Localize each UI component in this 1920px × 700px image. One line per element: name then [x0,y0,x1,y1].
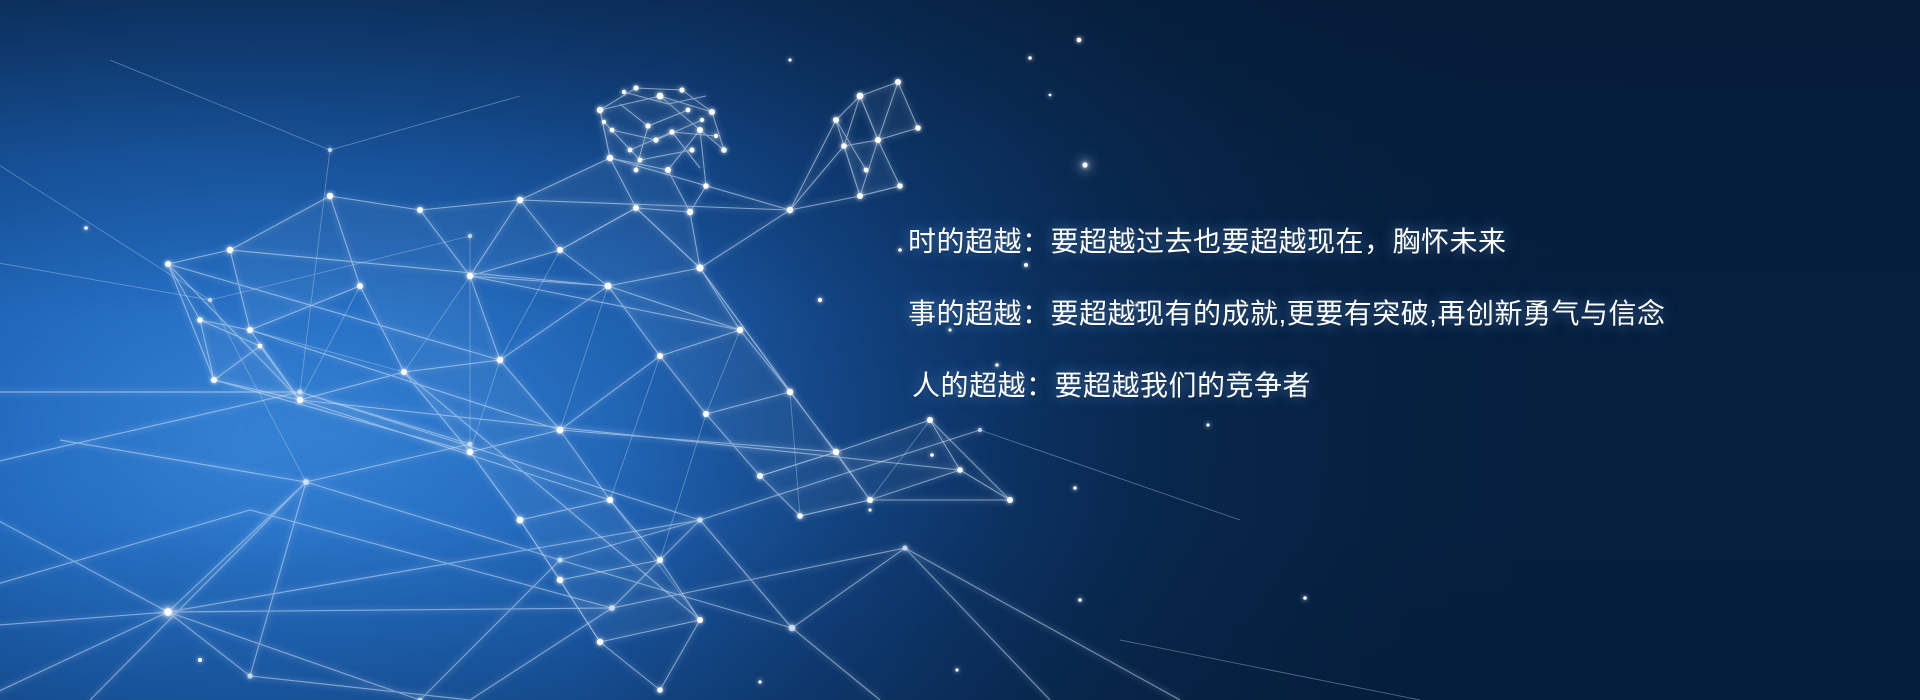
hero-banner: 时的超越：要超越过去也要超越现在，胸怀未来 事的超越：要超越现有的成就,更要有突… [0,0,1920,700]
tagline-block: 时的超越：要超越过去也要超越现在，胸怀未来 事的超越：要超越现有的成就,更要有突… [908,228,1788,400]
runner-polygon-faces [200,82,960,642]
tagline-people: 人的超越：要超越我们的竞争者 [912,372,1788,400]
tagline-time: 时的超越：要超越过去也要超越现在，胸怀未来 [908,228,1788,256]
tagline-matter: 事的超越：要超越现有的成就,更要有突破,再创新勇气与信念 [908,300,1788,328]
